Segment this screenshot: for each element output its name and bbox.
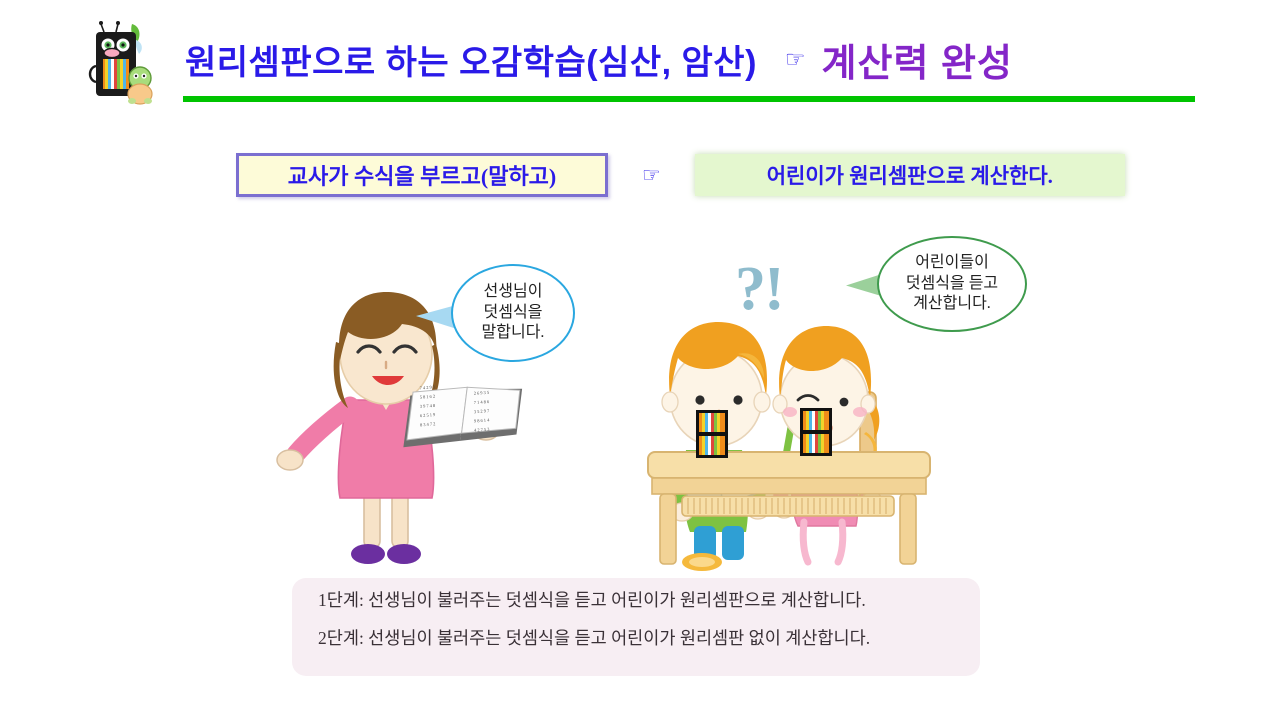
children-speech-bubble: 어린이들이 덧셈식을 듣고 계산합니다. bbox=[877, 236, 1027, 332]
pointing-hand-icon: ☞ bbox=[785, 48, 806, 71]
counting-board-left bbox=[696, 410, 728, 458]
children-illustration bbox=[638, 300, 938, 572]
page-title-main: 원리셈판으로 하는 오감학습(심산, 암산) bbox=[185, 35, 757, 84]
steps-panel-line-1: 1단계: 선생님이 불러주는 덧셈식을 듣고 어린이가 원리셈판으로 계산합니다… bbox=[318, 592, 954, 610]
steps-panel-line-2: 2단계: 선생님이 불러주는 덧셈식을 듣고 어린이가 원리셈판 없이 계산합니… bbox=[318, 630, 954, 648]
svg-text:5 8 1 6 2: 5 8 1 6 2 bbox=[420, 394, 436, 400]
steps-panel: 1단계: 선생님이 불러주는 덧셈식을 듣고 어린이가 원리셈판으로 계산합니다… bbox=[292, 578, 980, 676]
desk bbox=[648, 452, 930, 564]
page-title: 원리셈판으로 하는 오감학습(심산, 암산) ☞ 계산력 완성 bbox=[185, 30, 1195, 88]
teacher-speech-bubble: 선생님이 덧셈식을 말합니다. bbox=[451, 264, 575, 362]
counting-board-right bbox=[800, 408, 832, 456]
flow-arrow-hand-icon: ☞ bbox=[642, 165, 661, 186]
page-title-accent: 계산력 완성 bbox=[822, 32, 1013, 87]
teacher-speech-text: 선생님이 덧셈식을 말합니다. bbox=[482, 282, 545, 343]
thought-mark: ?! bbox=[735, 258, 825, 334]
slide-canvas: 원리셈판으로 하는 오감학습(심산, 암산) ☞ 계산력 완성 교사가 수식을 … bbox=[0, 0, 1280, 720]
flow-step-child-box: 어린이가 원리셈판으로 계산한다. bbox=[695, 154, 1125, 196]
flow-row: 교사가 수식을 부르고(말하고) ☞ 어린이가 원리셈판으로 계산한다. bbox=[236, 152, 1146, 198]
svg-text:8 3 4 7 2: 8 3 4 7 2 bbox=[420, 421, 436, 427]
flow-step-teacher-label: 교사가 수식을 부르고(말하고) bbox=[288, 159, 557, 191]
abacus-mascot-logo-icon bbox=[82, 16, 158, 108]
flow-step-teacher-box: 교사가 수식을 부르고(말하고) bbox=[236, 153, 608, 197]
header-divider bbox=[183, 96, 1195, 102]
children-speech-text: 어린이들이 덧셈식을 듣고 계산합니다. bbox=[906, 253, 998, 314]
flow-step-child-label: 어린이가 원리셈판으로 계산한다. bbox=[767, 160, 1053, 190]
